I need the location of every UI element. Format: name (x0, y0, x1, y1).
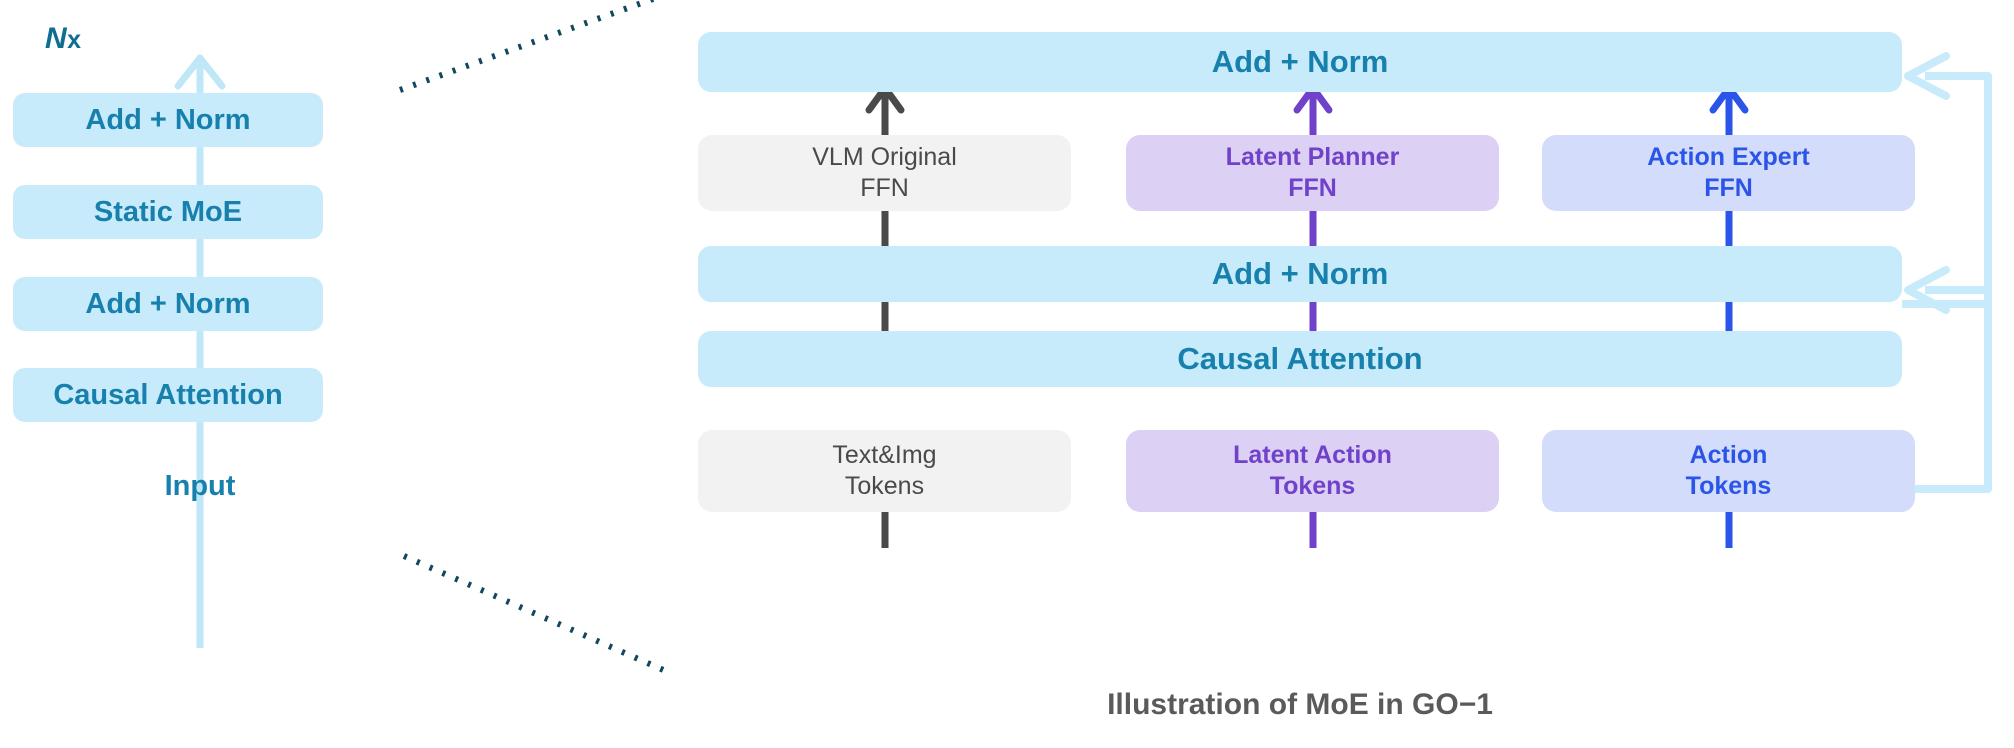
token-box-text: ActionTokens (1686, 440, 1772, 503)
right-bar-label: Add + Norm (1212, 255, 1389, 294)
expert-box-latent-planner-ffn[interactable]: Latent PlannerFFN (1126, 135, 1499, 211)
input-label: Input (70, 470, 330, 503)
left-block-static-moe[interactable]: Static MoE (13, 185, 323, 239)
repeat-count-n: N (45, 22, 67, 55)
dotted-guide-bottom (404, 556, 668, 672)
expert-line-2: FFN (860, 174, 909, 202)
expert-box-vlm-original-ffn[interactable]: VLM OriginalFFN (698, 135, 1071, 211)
expert-box-text: VLM OriginalFFN (812, 142, 957, 205)
expert-box-text: Latent PlannerFFN (1226, 142, 1400, 205)
expert-line-1: Latent Planner (1226, 143, 1400, 171)
token-line-1: Text&Img (832, 441, 936, 469)
expert-line-2: FFN (1704, 174, 1753, 202)
repeat-count-x: x (67, 26, 81, 54)
expert-line-1: VLM Original (812, 143, 957, 171)
token-box-text: Text&ImgTokens (832, 440, 936, 503)
left-block-label: Add + Norm (85, 102, 250, 138)
token-line-2: Tokens (1686, 472, 1772, 500)
expert-box-action-expert-ffn[interactable]: Action ExpertFFN (1542, 135, 1915, 211)
figure-caption: Illustration of MoE in GO−1 (698, 688, 1902, 722)
dotted-guide-top (400, 0, 700, 90)
token-box-latent-action-tokens[interactable]: Latent ActionTokens (1126, 430, 1499, 512)
repeat-count-label: Nx (45, 22, 82, 56)
right-bar-add-norm-mid[interactable]: Add + Norm (698, 246, 1902, 302)
figure-canvas: Nx Add + Norm Static MoE Add + Norm Caus… (0, 0, 2014, 748)
left-block-label: Add + Norm (85, 286, 250, 322)
expert-box-text: Action ExpertFFN (1647, 142, 1810, 205)
token-line-2: Tokens (845, 472, 924, 500)
right-bar-add-norm-top[interactable]: Add + Norm (698, 32, 1902, 92)
expert-line-2: FFN (1288, 174, 1337, 202)
left-block-causal-attention[interactable]: Causal Attention (13, 368, 323, 422)
token-line-1: Latent Action (1233, 441, 1392, 469)
token-line-1: Action (1690, 441, 1768, 469)
right-bar-label: Add + Norm (1212, 43, 1389, 82)
left-block-label: Causal Attention (53, 377, 282, 413)
token-box-text: Latent ActionTokens (1233, 440, 1392, 503)
left-block-add-norm-bottom[interactable]: Add + Norm (13, 277, 323, 331)
token-box-text-img-tokens[interactable]: Text&ImgTokens (698, 430, 1071, 512)
expert-line-1: Action Expert (1647, 143, 1810, 171)
token-line-2: Tokens (1270, 472, 1356, 500)
right-bar-causal-attention[interactable]: Causal Attention (698, 331, 1902, 387)
left-block-label: Static MoE (94, 194, 242, 230)
left-block-add-norm-top[interactable]: Add + Norm (13, 93, 323, 147)
right-bar-label: Causal Attention (1177, 340, 1422, 379)
token-box-action-tokens[interactable]: ActionTokens (1542, 430, 1915, 512)
